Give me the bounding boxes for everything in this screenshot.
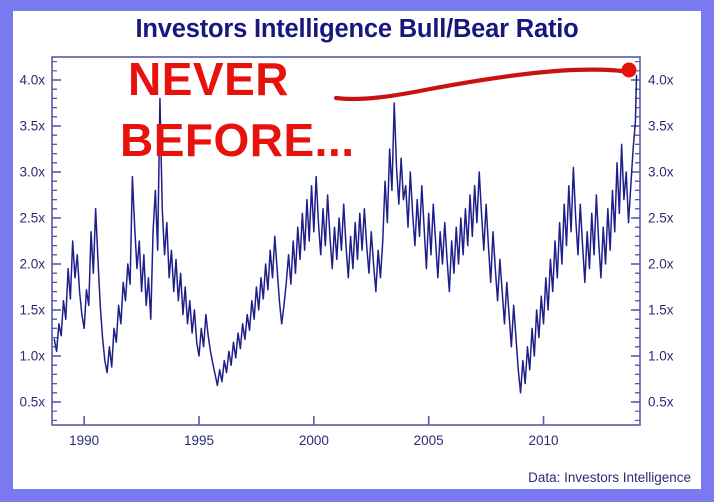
svg-text:0.5x: 0.5x xyxy=(648,395,674,410)
svg-text:1.5x: 1.5x xyxy=(648,303,674,318)
svg-text:0.5x: 0.5x xyxy=(19,395,45,410)
svg-text:2005: 2005 xyxy=(414,433,444,448)
x-axis-labels: 19901995200020052010 xyxy=(69,433,558,448)
svg-text:2000: 2000 xyxy=(299,433,329,448)
y-axis-right-labels: 0.5x1.0x1.5x2.0x2.5x3.0x3.5x4.0x xyxy=(648,73,674,410)
svg-text:2.5x: 2.5x xyxy=(648,211,674,226)
svg-text:1995: 1995 xyxy=(184,433,214,448)
chart-figure: 0.5x1.0x1.5x2.0x2.5x3.0x3.5x4.0x 0.5x1.0… xyxy=(0,0,714,502)
chart-svg: 0.5x1.0x1.5x2.0x2.5x3.0x3.5x4.0x 0.5x1.0… xyxy=(0,0,714,502)
red-pointer-curve xyxy=(336,70,628,99)
svg-text:4.0x: 4.0x xyxy=(19,73,45,88)
svg-text:3.5x: 3.5x xyxy=(648,119,674,134)
svg-text:2010: 2010 xyxy=(529,433,559,448)
svg-text:1.0x: 1.0x xyxy=(19,349,45,364)
svg-text:1.0x: 1.0x xyxy=(648,349,674,364)
annotation-line-2: BEFORE... xyxy=(120,118,355,163)
svg-text:2.5x: 2.5x xyxy=(19,211,45,226)
y-axis-left-ticks xyxy=(52,62,61,421)
svg-text:4.0x: 4.0x xyxy=(648,73,674,88)
annotation-line-1: NEVER xyxy=(128,57,289,102)
source-note: Data: Investors Intelligence xyxy=(528,470,691,485)
x-axis-ticks xyxy=(84,416,543,425)
svg-text:1.5x: 1.5x xyxy=(19,303,45,318)
y-axis-left-labels: 0.5x1.0x1.5x2.0x2.5x3.0x3.5x4.0x xyxy=(19,73,45,410)
annotation-layer xyxy=(336,63,637,99)
latest-reading-marker xyxy=(622,63,637,78)
svg-text:3.0x: 3.0x xyxy=(648,165,674,180)
svg-text:2.0x: 2.0x xyxy=(19,257,45,272)
svg-text:3.5x: 3.5x xyxy=(19,119,45,134)
svg-text:2.0x: 2.0x xyxy=(648,257,674,272)
svg-text:3.0x: 3.0x xyxy=(19,165,45,180)
svg-text:1990: 1990 xyxy=(69,433,99,448)
